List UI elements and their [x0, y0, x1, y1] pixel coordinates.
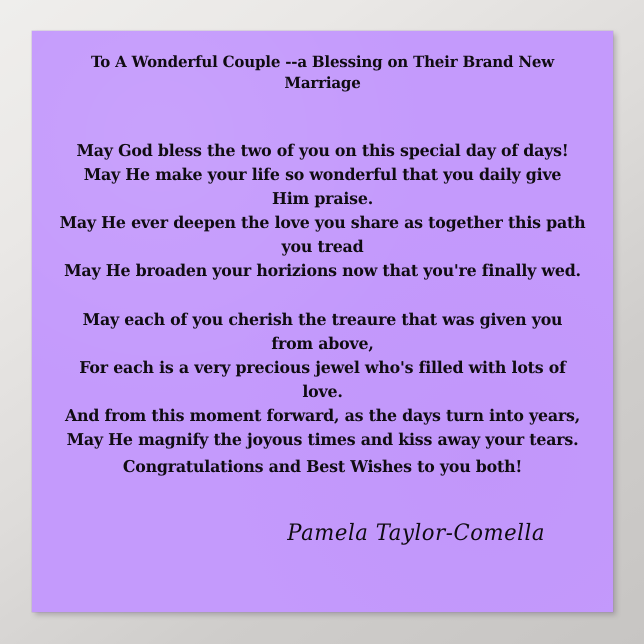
- poem-stanza-1: May God bless the two of you on this spe…: [56, 139, 589, 284]
- poem-line: May He ever deepen the love you share as…: [56, 211, 589, 235]
- poster-artwork: To A Wonderful Couple --a Blessing on Th…: [32, 31, 613, 612]
- poem-line: from above,: [56, 332, 589, 356]
- poem-line: you tread: [56, 235, 589, 259]
- poem-line: love.: [56, 380, 589, 404]
- poem-line: Him praise.: [56, 187, 589, 211]
- poster-title-line-1: To A Wonderful Couple --a Blessing on Th…: [91, 52, 554, 71]
- poster-title-line-2: Marriage: [284, 73, 360, 92]
- poem-line: May each of you cherish the treaure that…: [56, 308, 589, 332]
- poster-canvas: To A Wonderful Couple --a Blessing on Th…: [0, 0, 644, 644]
- poem-stanza-2: May each of you cherish the treaure that…: [56, 308, 589, 453]
- poem-body: May God bless the two of you on this spe…: [56, 139, 589, 452]
- poster-title: To A Wonderful Couple --a Blessing on Th…: [70, 51, 575, 93]
- poem-line: May He broaden your horizions now that y…: [56, 259, 589, 283]
- poem-closing-line: Congratulations and Best Wishes to you b…: [56, 455, 589, 479]
- poem-line: May He make your life so wonderful that …: [56, 163, 589, 187]
- author-signature: Pamela Taylor-Comella: [53, 521, 545, 546]
- poem-line: May He magnify the joyous times and kiss…: [56, 428, 589, 452]
- poem-line: For each is a very precious jewel who's …: [56, 356, 589, 380]
- poem-line: And from this moment forward, as the day…: [56, 404, 589, 428]
- poem-line: May God bless the two of you on this spe…: [56, 139, 589, 163]
